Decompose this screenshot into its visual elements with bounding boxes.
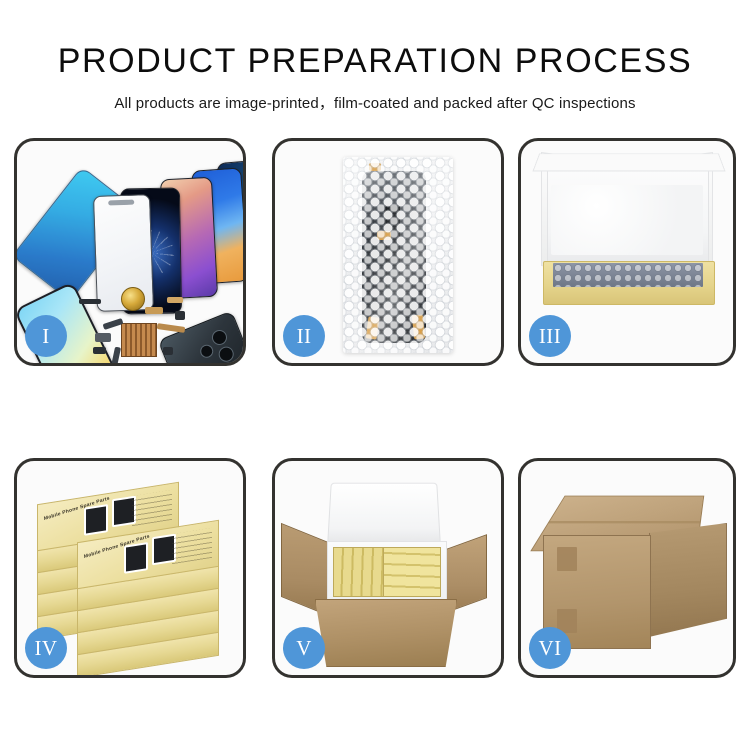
plastic-sheen xyxy=(343,157,453,353)
carton-seam xyxy=(549,521,700,523)
product-window xyxy=(124,542,148,574)
step-badge-6: VI xyxy=(529,627,571,669)
spare-chip xyxy=(167,297,183,303)
product-preparation-infographic: PRODUCT PREPARATION PROCESS All products… xyxy=(0,0,750,750)
spare-chip xyxy=(175,311,185,320)
wireless-charge-coil xyxy=(121,287,145,311)
spare-chip xyxy=(95,333,111,342)
process-step-panel-4[interactable]: Mobile Phone Spare Parts Mobile Phone Sp… xyxy=(14,458,246,678)
flex-cable xyxy=(157,323,186,333)
product-window xyxy=(84,504,108,536)
foam-sheet xyxy=(551,185,703,255)
carton-front-panel xyxy=(315,599,457,667)
foam-box-lid xyxy=(327,483,441,546)
step-badge-1: I xyxy=(25,315,67,357)
bubble-wrapped-contents xyxy=(553,263,703,287)
spare-chip xyxy=(79,299,101,304)
camera-lens-icon xyxy=(210,328,230,348)
process-step-panel-1[interactable]: I xyxy=(14,138,246,366)
step-badge-2: II xyxy=(283,315,325,357)
logic-board-chipset xyxy=(121,323,157,357)
step-badge-5: V xyxy=(283,627,325,669)
process-step-panel-3[interactable]: III xyxy=(518,138,736,366)
camera-lens-icon xyxy=(216,344,236,363)
flex-cable xyxy=(111,347,121,363)
step-badge-3: III xyxy=(529,315,571,357)
phone-back-housing xyxy=(158,310,243,363)
camera-lens-icon xyxy=(198,343,215,360)
process-step-grid: I II xyxy=(0,0,750,750)
spec-text-lines xyxy=(172,528,212,564)
carton-side-face xyxy=(649,523,727,637)
spare-chip xyxy=(163,347,173,355)
spare-chip xyxy=(145,307,163,314)
carton-tape-tab xyxy=(557,547,577,571)
process-step-panel-5[interactable]: V xyxy=(272,458,504,678)
bubble-wrap-package xyxy=(343,157,453,353)
step-badge-4: IV xyxy=(25,627,67,669)
process-step-panel-6[interactable]: VI xyxy=(518,458,736,678)
spare-chip xyxy=(93,347,106,354)
spec-text-lines xyxy=(132,490,172,526)
packed-yellow-boxes-row2 xyxy=(383,547,441,597)
process-step-panel-2[interactable]: II xyxy=(272,138,504,366)
